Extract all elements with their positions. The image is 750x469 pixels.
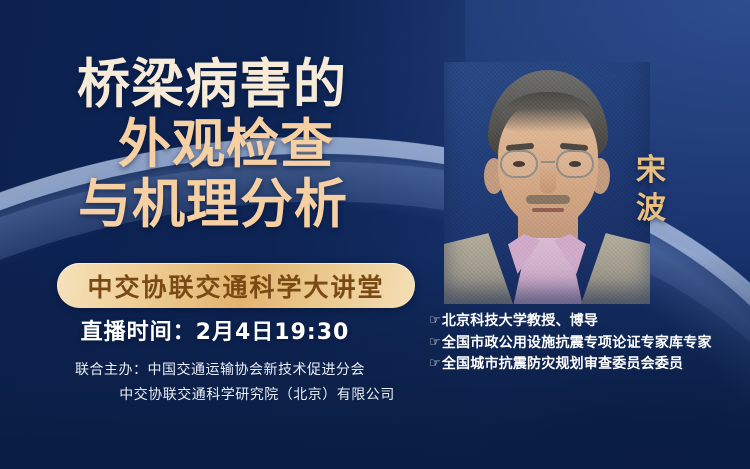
credential-row: ☞ 北京科技大学教授、博导 xyxy=(429,311,745,333)
speaker-photo-inner xyxy=(444,62,650,304)
series-banner: 中交协联交通科学大讲堂 xyxy=(57,263,415,308)
speaker-name-char-2: 波 xyxy=(628,190,674,228)
speaker-name-char-1: 宋 xyxy=(628,152,674,190)
live-time: 直播时间：2月4日19:30 xyxy=(0,314,430,346)
pointing-hand-icon: ☞ xyxy=(429,354,441,374)
pointing-hand-icon: ☞ xyxy=(429,333,441,353)
pointing-hand-icon: ☞ xyxy=(429,311,441,331)
credential-row: ☞ 全国城市抗震防灾规划审查委员会委员 xyxy=(429,354,745,376)
credential-row: ☞ 全国市政公用设施抗震专项论证专家库专家 xyxy=(429,333,745,355)
organizer-line-2: 中交协联交通科学研究院（北京）有限公司 xyxy=(0,383,440,408)
poster-title: 桥梁病害的 外观检查 与机理分析 xyxy=(0,58,430,231)
organizer-line-1: 联合主办：中国交通运输协会新技术促进分会 xyxy=(0,358,440,383)
title-line-1: 桥梁病害的 xyxy=(0,58,430,111)
photo-vignette xyxy=(444,62,650,304)
speaker-name: 宋 波 xyxy=(628,152,674,227)
speaker-photo xyxy=(444,62,650,304)
title-line-2: 外观检查 xyxy=(22,118,430,171)
credential-text: 全国城市抗震防灾规划审查委员会委员 xyxy=(442,354,683,376)
title-line-3: 与机理分析 xyxy=(0,178,430,231)
credential-text: 全国市政公用设施抗震专项论证专家库专家 xyxy=(442,333,712,355)
credential-text: 北京科技大学教授、博导 xyxy=(442,311,598,333)
webinar-poster: 桥梁病害的 外观检查 与机理分析 中交协联交通科学大讲堂 直播时间：2月4日19… xyxy=(0,0,750,469)
series-banner-label: 中交协联交通科学大讲堂 xyxy=(87,268,384,304)
organizers: 联合主办：中国交通运输协会新技术促进分会 中交协联交通科学研究院（北京）有限公司 xyxy=(0,358,440,407)
speaker-credentials: ☞ 北京科技大学教授、博导 ☞ 全国市政公用设施抗震专项论证专家库专家 ☞ 全国… xyxy=(429,311,745,376)
